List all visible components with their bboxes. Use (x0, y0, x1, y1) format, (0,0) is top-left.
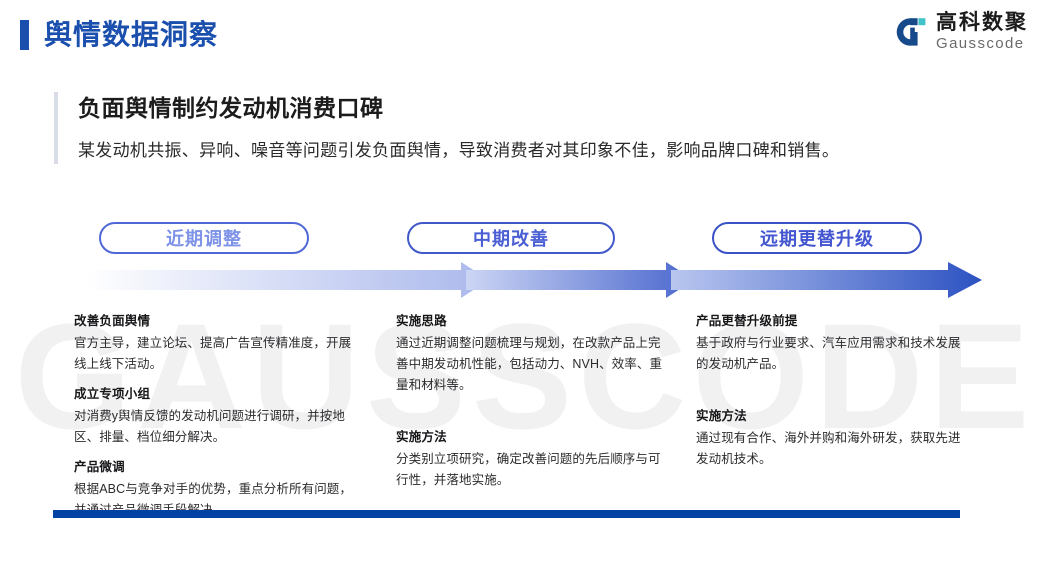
block-spacer (696, 375, 964, 397)
gausscode-logo-icon (893, 15, 927, 49)
block-body: 分类别立项研究，确定改善问题的先后顺序与可行性，并落地实施。 (396, 449, 664, 491)
footer-bar (53, 510, 960, 518)
block-title: 实施思路 (396, 312, 664, 331)
page-title: 舆情数据洞察 (44, 16, 218, 54)
block-title: 改善负面舆情 (74, 312, 362, 331)
block-spacer (396, 396, 664, 418)
block-title: 实施方法 (696, 407, 964, 426)
lead-subtitle: 某发动机共振、异响、噪音等问题引发负面舆情，导致消费者对其印象不佳，影响品牌口碑… (78, 138, 974, 164)
logo-name-cn: 高科数聚 (936, 12, 1028, 33)
block-body: 官方主导，建立论坛、提高广告宣传精准度，开展线上线下活动。 (74, 333, 362, 375)
column-long-term: 产品更替升级前提 基于政府与行业要求、汽车应用需求和技术发展的发动机产品。 实施… (696, 312, 964, 470)
block-body: 通过近期调整问题梳理与规划，在改款产品上完善中期发动机性能，包括动力、NVH、效… (396, 333, 664, 396)
timeline-arrow (86, 262, 986, 298)
header-accent-bar (20, 20, 29, 50)
stage-pill-1[interactable]: 近期调整 (99, 222, 309, 254)
block-body: 对消费y舆情反馈的发动机问题进行调研，并按地区、排量、档位细分解决。 (74, 406, 362, 448)
logo-name-en: Gausscode (936, 36, 1028, 51)
lead-block: 负面舆情制约发动机消费口碑 某发动机共振、异响、噪音等问题引发负面舆情，导致消费… (54, 92, 974, 164)
block-body: 通过现有合作、海外并购和海外研发，获取先进发动机技术。 (696, 428, 964, 470)
block-title: 产品微调 (74, 458, 362, 477)
block-title: 实施方法 (396, 428, 664, 447)
column-mid-term: 实施思路 通过近期调整问题梳理与规划，在改款产品上完善中期发动机性能，包括动力、… (396, 312, 664, 491)
arrow-segment-3 (671, 262, 982, 298)
stage-pill-2[interactable]: 中期改善 (407, 222, 615, 254)
block-title: 产品更替升级前提 (696, 312, 964, 331)
logo-text: 高科数聚 Gausscode (936, 12, 1028, 51)
block-title: 成立专项小组 (74, 385, 362, 404)
block-body: 基于政府与行业要求、汽车应用需求和技术发展的发动机产品。 (696, 333, 964, 375)
column-near-term: 改善负面舆情 官方主导，建立论坛、提高广告宣传精准度，开展线上线下活动。 成立专… (74, 312, 362, 521)
slide-canvas: GAUSSCODE 舆情数据洞察 高科数聚 Gausscode 负面舆情制约发动… (0, 0, 1050, 588)
stage-pill-3[interactable]: 远期更替升级 (712, 222, 922, 254)
lead-title: 负面舆情制约发动机消费口碑 (78, 92, 974, 124)
arrow-segment-1 (86, 262, 489, 298)
brand-logo: 高科数聚 Gausscode (893, 12, 1028, 51)
